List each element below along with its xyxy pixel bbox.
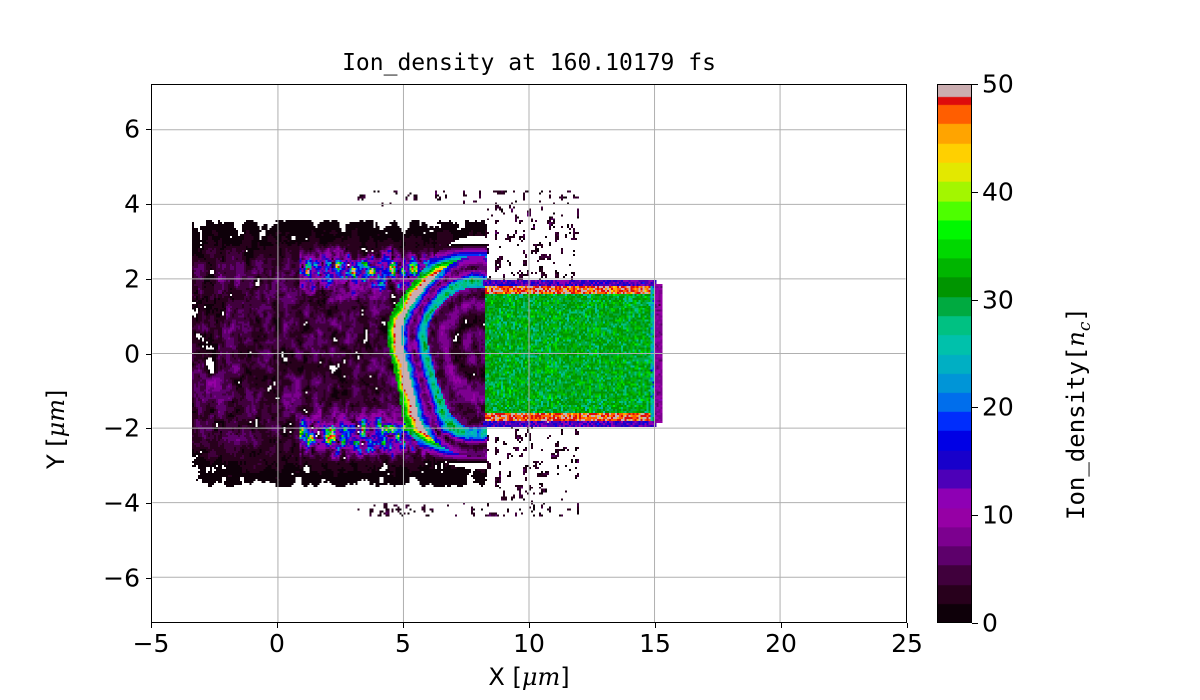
y-tick (146, 428, 151, 429)
colorbar-tick-label: 20 (982, 393, 1014, 422)
y-tick (146, 354, 151, 355)
y-tick-label: 4 (124, 189, 140, 218)
y-tick (146, 129, 151, 130)
colorbar-tick (972, 300, 978, 301)
y-tick (146, 204, 151, 205)
colorbar-tick-label: 0 (982, 609, 998, 638)
colorbar-tick (972, 515, 978, 516)
y-axis-title-units: μm (42, 399, 70, 437)
x-tick-label: 0 (269, 629, 285, 658)
x-tick (907, 623, 908, 628)
x-axis-title-suffix: ] (560, 663, 569, 691)
main-axes (151, 84, 907, 623)
y-tick (146, 503, 151, 504)
x-tick-label: 25 (891, 629, 923, 658)
y-tick-label: −6 (103, 564, 140, 593)
colorbar-title: Ion_density[nc] (1062, 307, 1095, 520)
colorbar-title-suffix: ] (1062, 307, 1090, 321)
x-tick (781, 623, 782, 628)
y-axis-title: Y [μm] (42, 390, 70, 469)
y-axis-title-suffix: ] (42, 390, 70, 399)
colorbar-gradient (938, 85, 971, 622)
colorbar-title-prefix: Ion_density[ (1062, 347, 1090, 520)
x-tick (277, 623, 278, 628)
x-tick (655, 623, 656, 628)
x-tick (151, 623, 152, 628)
x-tick (403, 623, 404, 628)
colorbar-tick-label: 10 (982, 501, 1014, 530)
x-axis-title-units: μm (522, 663, 560, 691)
colorbar-title-subscript: c (1075, 322, 1095, 332)
figure-canvas: Ion_density at 160.10179 fs −50510152025… (0, 0, 1200, 700)
colorbar-tick (972, 407, 978, 408)
colorbar-tick (972, 192, 978, 193)
y-tick-label: −2 (103, 414, 140, 443)
x-tick-label: 10 (513, 629, 545, 658)
colorbar-tick-label: 50 (982, 70, 1014, 99)
x-tick-label: 5 (395, 629, 411, 658)
axes-gridlines (152, 85, 906, 622)
x-tick-label: 20 (765, 629, 797, 658)
colorbar-tick (972, 84, 978, 85)
y-axis-title-prefix: Y [ (42, 437, 70, 469)
x-axis-title: X [μm] (151, 663, 907, 691)
plot-title: Ion_density at 160.10179 fs (151, 50, 907, 76)
x-axis-title-prefix: X [ (488, 663, 521, 691)
y-tick-label: −4 (103, 489, 140, 518)
y-tick (146, 279, 151, 280)
y-tick (146, 578, 151, 579)
colorbar-tick-label: 40 (982, 177, 1014, 206)
colorbar (937, 84, 972, 623)
x-tick-label: −5 (133, 629, 170, 658)
colorbar-tick (972, 623, 978, 624)
x-tick-label: 15 (639, 629, 671, 658)
y-tick-label: 2 (124, 264, 140, 293)
x-tick (529, 623, 530, 628)
colorbar-title-symbol: n (1062, 331, 1090, 346)
y-tick-label: 6 (124, 114, 140, 143)
colorbar-tick-label: 30 (982, 285, 1014, 314)
y-tick-label: 0 (124, 339, 140, 368)
